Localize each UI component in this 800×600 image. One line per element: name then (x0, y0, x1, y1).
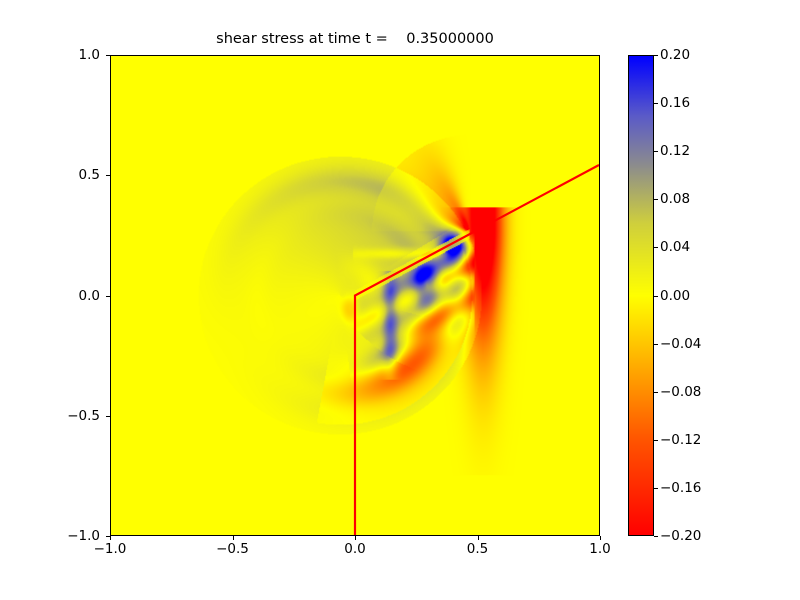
y-tick-label: 0.0 (48, 288, 100, 304)
y-tick-label: −0.5 (48, 408, 100, 424)
colorbar-tick-mark (654, 103, 658, 104)
y-tick-mark (106, 55, 110, 56)
x-tick-mark (600, 536, 601, 540)
colorbar-tick-mark (654, 199, 658, 200)
colorbar-tick-label: 0.08 (660, 191, 690, 207)
x-tick-label: 1.0 (589, 541, 610, 557)
colorbar-tick-mark (654, 488, 658, 489)
colorbar-tick-mark (654, 247, 658, 248)
colorbar-tick-mark (654, 296, 658, 297)
colorbar-tick-label: −0.16 (660, 480, 701, 496)
x-tick-label: −0.5 (216, 541, 249, 557)
heatmap-axes[interactable] (110, 55, 600, 536)
x-tick-mark (355, 536, 356, 540)
colorbar-tick-label: 0.00 (660, 288, 690, 304)
crack-polyline (355, 165, 599, 535)
colorbar[interactable] (628, 55, 654, 536)
y-tick-mark (106, 536, 110, 537)
y-tick-mark (106, 296, 110, 297)
colorbar-tick-label: 0.12 (660, 143, 690, 159)
colorbar-tick-label: −0.08 (660, 384, 701, 400)
x-tick-mark (233, 536, 234, 540)
y-tick-mark (106, 416, 110, 417)
colorbar-tick-label: 0.04 (660, 239, 690, 255)
y-tick-label: 1.0 (48, 47, 100, 63)
colorbar-gradient (629, 56, 653, 535)
crack-overlay (111, 56, 599, 535)
colorbar-tick-mark (654, 344, 658, 345)
page-title: shear stress at time t = 0.35000000 (110, 30, 600, 48)
y-tick-label: 0.5 (48, 167, 100, 183)
colorbar-tick-mark (654, 151, 658, 152)
colorbar-tick-mark (654, 392, 658, 393)
colorbar-tick-label: 0.16 (660, 95, 690, 111)
colorbar-tick-label: 0.20 (660, 47, 690, 63)
y-tick-mark (106, 175, 110, 176)
colorbar-tick-mark (654, 536, 658, 537)
x-tick-mark (110, 536, 111, 540)
y-tick-label: −1.0 (48, 528, 100, 544)
colorbar-tick-mark (654, 55, 658, 56)
x-tick-label: 0.5 (467, 541, 488, 557)
colorbar-tick-label: −0.20 (660, 528, 701, 544)
colorbar-tick-mark (654, 440, 658, 441)
x-tick-label: 0.0 (344, 541, 365, 557)
figure-canvas: shear stress at time t = 0.35000000 −1.0… (0, 0, 800, 600)
colorbar-tick-label: −0.12 (660, 432, 701, 448)
colorbar-tick-label: −0.04 (660, 336, 701, 352)
x-tick-mark (478, 536, 479, 540)
